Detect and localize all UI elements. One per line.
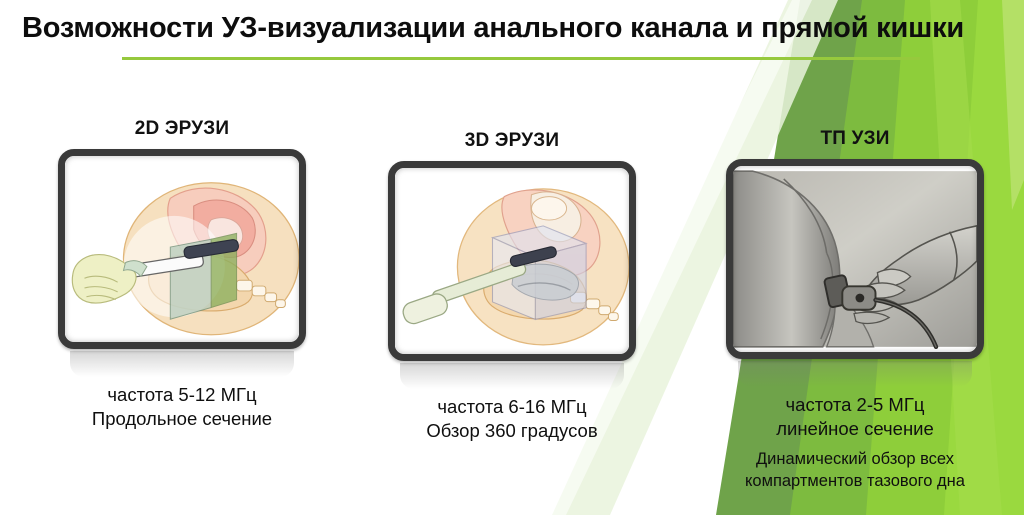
panel-tp-caption: частота 2-5 МГц линейное сечение Динамич…: [726, 393, 984, 492]
title-underline-rule: [122, 57, 920, 60]
panel-tp-caption-extra-line-1: Динамический обзор всех: [726, 449, 984, 470]
slide: Возможности УЗ-визуализации анального ка…: [0, 0, 1024, 515]
panel-tp-caption-line-2: линейное сечение: [726, 417, 984, 441]
2d-erusi-illustration: [65, 156, 299, 342]
panel-2d-caption: частота 5-12 МГц Продольное сечение: [58, 383, 306, 431]
panel-tp-uzi: ТП УЗИ: [726, 128, 984, 492]
panel-tp-heading: ТП УЗИ: [726, 128, 984, 150]
panel-2d-image-frame[interactable]: [58, 149, 306, 349]
panel-3d-image-frame[interactable]: [388, 161, 636, 361]
panel-tp-caption-line-1: частота 2-5 МГц: [726, 393, 984, 417]
panel-3d-erusi: 3D ЭРУЗИ: [388, 130, 636, 443]
panel-2d-reflection: [70, 351, 294, 377]
panel-3d-reflection: [400, 363, 624, 389]
page-title: Возможности УЗ-визуализации анального ка…: [22, 12, 1012, 45]
panel-tp-reflection: [738, 361, 972, 387]
panel-2d-erusi: 2D ЭРУЗИ: [58, 118, 306, 431]
panel-3d-caption-line-1: частота 6-16 МГц: [388, 395, 636, 419]
panel-2d-heading: 2D ЭРУЗИ: [58, 118, 306, 140]
panel-3d-caption-line-2: Обзор 360 градусов: [388, 419, 636, 443]
panel-2d-caption-line-2: Продольное сечение: [58, 407, 306, 431]
panel-tp-image-frame[interactable]: [726, 159, 984, 359]
panel-3d-caption: частота 6-16 МГц Обзор 360 градусов: [388, 395, 636, 443]
panel-2d-caption-line-1: частота 5-12 МГц: [58, 383, 306, 407]
panel-tp-caption-extra-line-2: компартментов тазового дна: [726, 471, 984, 492]
panel-3d-heading: 3D ЭРУЗИ: [388, 130, 636, 152]
tp-uzi-photo: [733, 166, 977, 352]
3d-erusi-illustration: [395, 168, 629, 354]
